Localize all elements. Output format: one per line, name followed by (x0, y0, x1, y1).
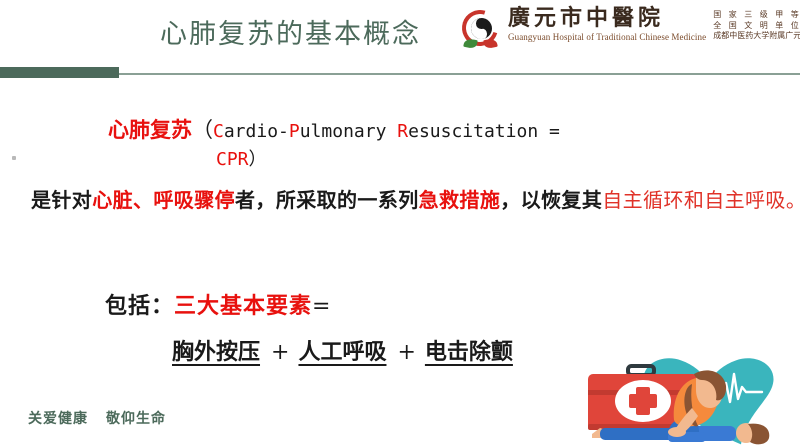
cpr-abbr-line: CPR） (216, 145, 267, 171)
logo-subtitle-block: 国家三级甲等医院 全国文明单位 成都中医药大学附属广元医院 (713, 10, 800, 42)
logo-sub-line-1: 国家三级甲等医院 (713, 10, 800, 21)
element-chest-compression: 胸外按压 (172, 339, 262, 365)
logo-sub-line-3: 成都中医药大学附属广元医院 (713, 31, 800, 42)
logo-name-en: Guangyuan Hospital of Traditional Chines… (508, 31, 706, 43)
element-rescue-breathing: 人工呼吸 (298, 339, 388, 365)
logo-sub-line-2: 全国文明单位 (713, 21, 800, 32)
element-plus-1: + (262, 340, 298, 365)
includes-line: 包括：三大基本要素= (105, 288, 331, 320)
cpr-en-c: C (213, 121, 224, 142)
cpr-term-line: 心肺复苏（Cardio-Pulmonary Resuscitation = (108, 115, 560, 147)
yin-yang-icon (471, 18, 492, 39)
header-accent-bar (0, 67, 119, 78)
three-elements-line: 胸外按压+人工呼吸+电击除颤 (172, 334, 515, 366)
definition-seg-1: 是针对 (31, 188, 92, 212)
cpr-term-cn: 心肺复苏 (108, 117, 192, 142)
cpr-en-esuscitation: esuscitation (408, 121, 538, 142)
element-defibrillation: 电击除颤 (425, 339, 515, 365)
page-title: 心肺复苏的基本概念 (160, 12, 421, 51)
header-divider-line (116, 73, 800, 75)
cpr-en-r: R (397, 121, 408, 142)
cpr-en-p: P (289, 121, 300, 142)
cpr-paren-close: ） (249, 149, 267, 170)
cpr-en-ardio: ardio- (224, 121, 289, 142)
emblem-leaf-right (483, 38, 498, 50)
cpr-definition-line: 是针对心脏、呼吸骤停者，所采取的一系列急救措施，以恢复其自主循环和自主呼吸。 (31, 184, 800, 213)
cpr-en-ulmonary: ulmonary (300, 121, 398, 142)
cpr-equals: = (538, 121, 560, 142)
element-plus-2: + (388, 340, 424, 365)
cpr-paren-open: （ (192, 118, 213, 142)
slide-footer: 关爱健康敬仰生命 (28, 408, 166, 428)
definition-seg-6-highlight: 自主循环和自主呼吸。 (602, 188, 800, 212)
definition-seg-4-highlight: 急救措施 (419, 188, 501, 212)
logo-name-cn: 廣元市中醫院 (508, 6, 706, 31)
footer-right-text: 敬仰生命 (106, 411, 166, 427)
cpr-first-aid-illustration (566, 356, 800, 447)
cpr-abbr: CPR (216, 149, 249, 170)
definition-seg-3: 者，所采取的一系列 (235, 188, 419, 212)
definition-seg-2-highlight: 心脏、呼吸骤停 (92, 188, 235, 212)
footer-left-text: 关爱健康 (28, 411, 88, 427)
definition-seg-5: ，以恢复其 (500, 188, 602, 212)
hospital-logo: 廣元市中醫院 Guangyuan Hospital of Traditional… (462, 6, 796, 54)
yin-yang-hospital-emblem-icon (462, 9, 502, 49)
includes-equals: = (312, 294, 331, 319)
logo-name-block: 廣元市中醫院 Guangyuan Hospital of Traditional… (508, 6, 706, 43)
includes-highlight: 三大基本要素 (174, 293, 312, 319)
slide-canvas: 心肺复苏的基本概念 廣元市中醫院 Guangyuan Hospital of T… (0, 0, 800, 447)
includes-label: 包括： (105, 293, 174, 319)
emblem-leaf-left (463, 38, 478, 50)
stray-dot-artifact (12, 156, 16, 160)
